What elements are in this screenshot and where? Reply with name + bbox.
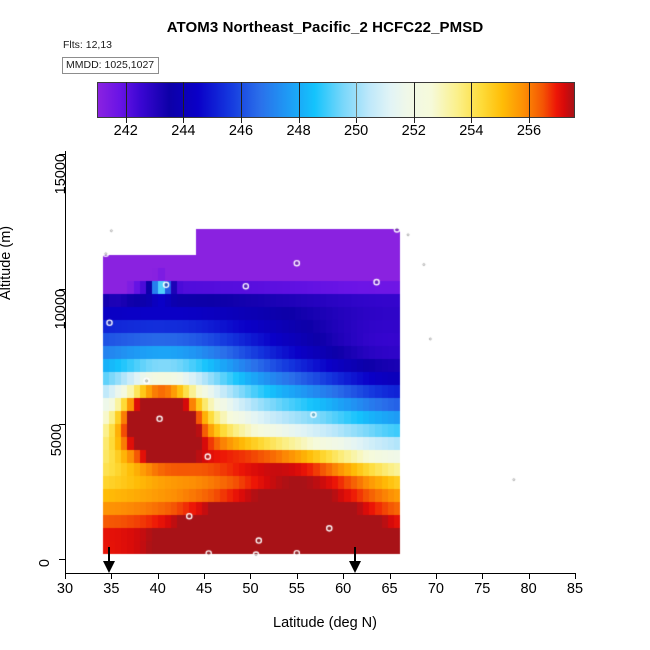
x-tick-85 xyxy=(575,573,576,579)
x-tick-40 xyxy=(158,573,159,579)
flights-annotation: Flts: 12,13 xyxy=(63,39,112,51)
x-tick-45 xyxy=(204,573,205,579)
y-axis-title: Altitude (m) xyxy=(0,226,14,300)
x-tick-label-30: 30 xyxy=(57,581,73,597)
x-tick-label-45: 45 xyxy=(196,581,212,597)
x-axis-line xyxy=(65,573,575,574)
y-tick-label-0: 0 xyxy=(37,559,53,567)
x-tick-label-65: 65 xyxy=(381,581,397,597)
page-title: ATOM3 Northeast_Pacific_2 HCFC22_PMSD xyxy=(0,19,650,36)
profile-arrow-1-icon xyxy=(103,547,115,573)
x-tick-label-70: 70 xyxy=(428,581,444,597)
x-tick-55 xyxy=(297,573,298,579)
x-tick-35 xyxy=(111,573,112,579)
y-axis-line xyxy=(65,151,66,573)
x-axis-title: Latitude (deg N) xyxy=(0,615,650,631)
x-tick-label-50: 50 xyxy=(242,581,258,597)
x-tick-label-80: 80 xyxy=(521,581,537,597)
y-tick-label-15000: 15000 xyxy=(53,154,69,194)
x-tick-label-60: 60 xyxy=(335,581,351,597)
plot-area: 303540455055606570758085 050001000015000 xyxy=(65,86,575,573)
x-tick-label-85: 85 xyxy=(567,581,583,597)
figure-root: ATOM3 Northeast_Pacific_2 HCFC22_PMSD Fl… xyxy=(0,0,650,650)
x-tick-65 xyxy=(390,573,391,579)
profile-arrow-2-icon xyxy=(349,547,361,573)
x-tick-60 xyxy=(343,573,344,579)
x-tick-label-55: 55 xyxy=(289,581,305,597)
y-tick-label-10000: 10000 xyxy=(53,289,69,329)
x-tick-label-75: 75 xyxy=(474,581,490,597)
y-tick-label-5000: 5000 xyxy=(49,424,65,456)
x-tick-75 xyxy=(482,573,483,579)
x-tick-80 xyxy=(529,573,530,579)
y-tick-0 xyxy=(59,559,65,560)
x-tick-50 xyxy=(250,573,251,579)
x-tick-70 xyxy=(436,573,437,579)
heatmap-field xyxy=(65,86,575,573)
x-tick-label-35: 35 xyxy=(103,581,119,597)
x-tick-30 xyxy=(65,573,66,579)
mmdd-annotation: MMDD: 1025,1027 xyxy=(62,57,159,74)
x-tick-label-40: 40 xyxy=(150,581,166,597)
